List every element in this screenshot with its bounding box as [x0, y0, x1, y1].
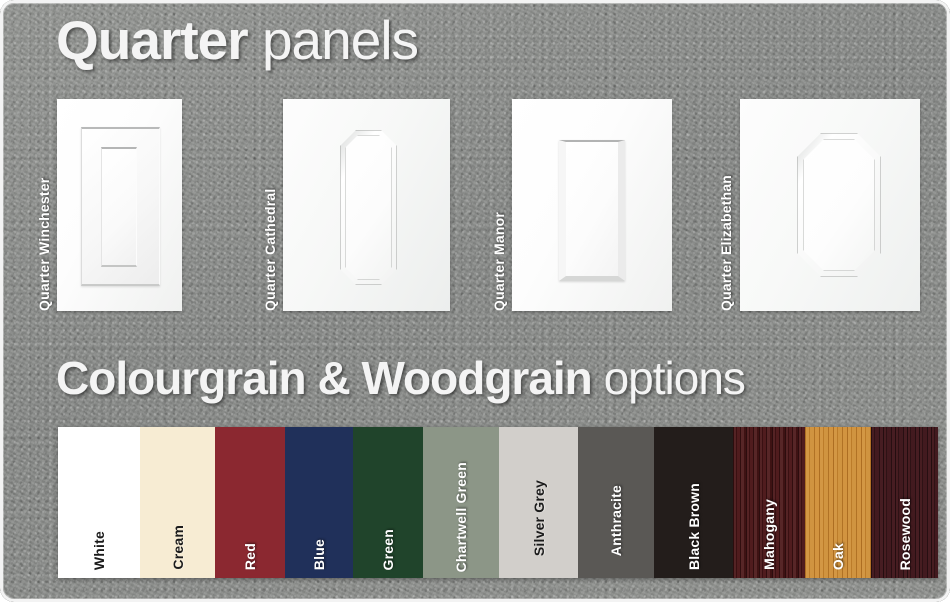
swatch-mahogany[interactable]: Mahogany: [733, 427, 805, 578]
panel-label-quarter-cathedral: Quarter Cathedral: [262, 99, 278, 311]
page-title-light: panels: [248, 9, 418, 71]
swatch-black-brown[interactable]: Black Brown: [654, 427, 733, 578]
swatch-chartwell-green[interactable]: Chartwell Green: [423, 427, 499, 578]
panel-card-quarter-winchester: [57, 99, 182, 311]
section-title-bold: Colourgrain & Woodgrain: [56, 352, 592, 404]
swatch-rosewood[interactable]: Rosewood: [871, 427, 938, 578]
panel-item-quarter-cathedral[interactable]: Quarter Cathedral: [262, 99, 450, 311]
page-title-bold: Quarter: [56, 9, 248, 71]
elizabethan-octagon-inner: [803, 139, 875, 271]
swatch-label-green: Green: [380, 529, 396, 570]
section-title-light: options: [592, 352, 745, 404]
panel-label-quarter-elizabethan: Quarter Elizabethan: [718, 99, 734, 311]
swatch-label-black-brown: Black Brown: [686, 483, 702, 570]
swatch-silver-grey[interactable]: Silver Grey: [499, 427, 578, 578]
swatch-white[interactable]: White: [58, 427, 140, 578]
swatch-label-oak: Oak: [830, 543, 846, 570]
swatch-label-cream: Cream: [170, 525, 186, 570]
panel-card-quarter-elizabethan: [740, 99, 920, 311]
page-title-quarter-panels: Quarter panels: [56, 8, 418, 72]
swatch-blue[interactable]: Blue: [285, 427, 353, 578]
swatch-label-chartwell-green: Chartwell Green: [453, 462, 469, 572]
swatch-label-red: Red: [242, 543, 258, 570]
panel-card-quarter-cathedral: [283, 99, 450, 311]
colour-swatch-strip: White Cream Red Blue Green Chartwell Gre…: [58, 427, 938, 578]
elizabethan-octagon-outer: [797, 133, 881, 277]
manor-plate-face: [566, 142, 618, 276]
swatch-label-rosewood: Rosewood: [897, 498, 913, 570]
cathedral-octagon-outer: [340, 130, 397, 285]
brochure-panel-options: Quarter panels Quarter Winchester Quarte…: [0, 0, 950, 602]
manor-bevelled-plate: [559, 140, 625, 281]
panel-item-quarter-elizabethan[interactable]: Quarter Elizabethan: [718, 99, 920, 311]
panel-card-quarter-manor: [512, 99, 672, 311]
swatch-anthracite[interactable]: Anthracite: [578, 427, 654, 578]
panel-item-quarter-manor[interactable]: Quarter Manor: [491, 99, 672, 311]
swatch-label-anthracite: Anthracite: [608, 485, 624, 556]
swatch-label-white: White: [91, 531, 107, 570]
swatch-oak[interactable]: Oak: [805, 427, 871, 578]
swatch-green[interactable]: Green: [353, 427, 423, 578]
panel-label-quarter-manor: Quarter Manor: [491, 99, 507, 311]
swatch-label-blue: Blue: [311, 539, 327, 570]
swatch-cream[interactable]: Cream: [140, 427, 215, 578]
winchester-inner-panel: [101, 147, 137, 267]
panel-item-quarter-winchester[interactable]: Quarter Winchester: [36, 99, 182, 311]
swatch-label-mahogany: Mahogany: [761, 499, 777, 570]
swatch-label-silver-grey: Silver Grey: [531, 480, 547, 556]
cathedral-octagon-inner: [345, 135, 392, 280]
panel-label-quarter-winchester: Quarter Winchester: [36, 99, 52, 311]
winchester-outer-frame: [81, 127, 160, 286]
section-title-colour-options: Colourgrain & Woodgrain options: [56, 350, 745, 406]
swatch-red[interactable]: Red: [215, 427, 285, 578]
